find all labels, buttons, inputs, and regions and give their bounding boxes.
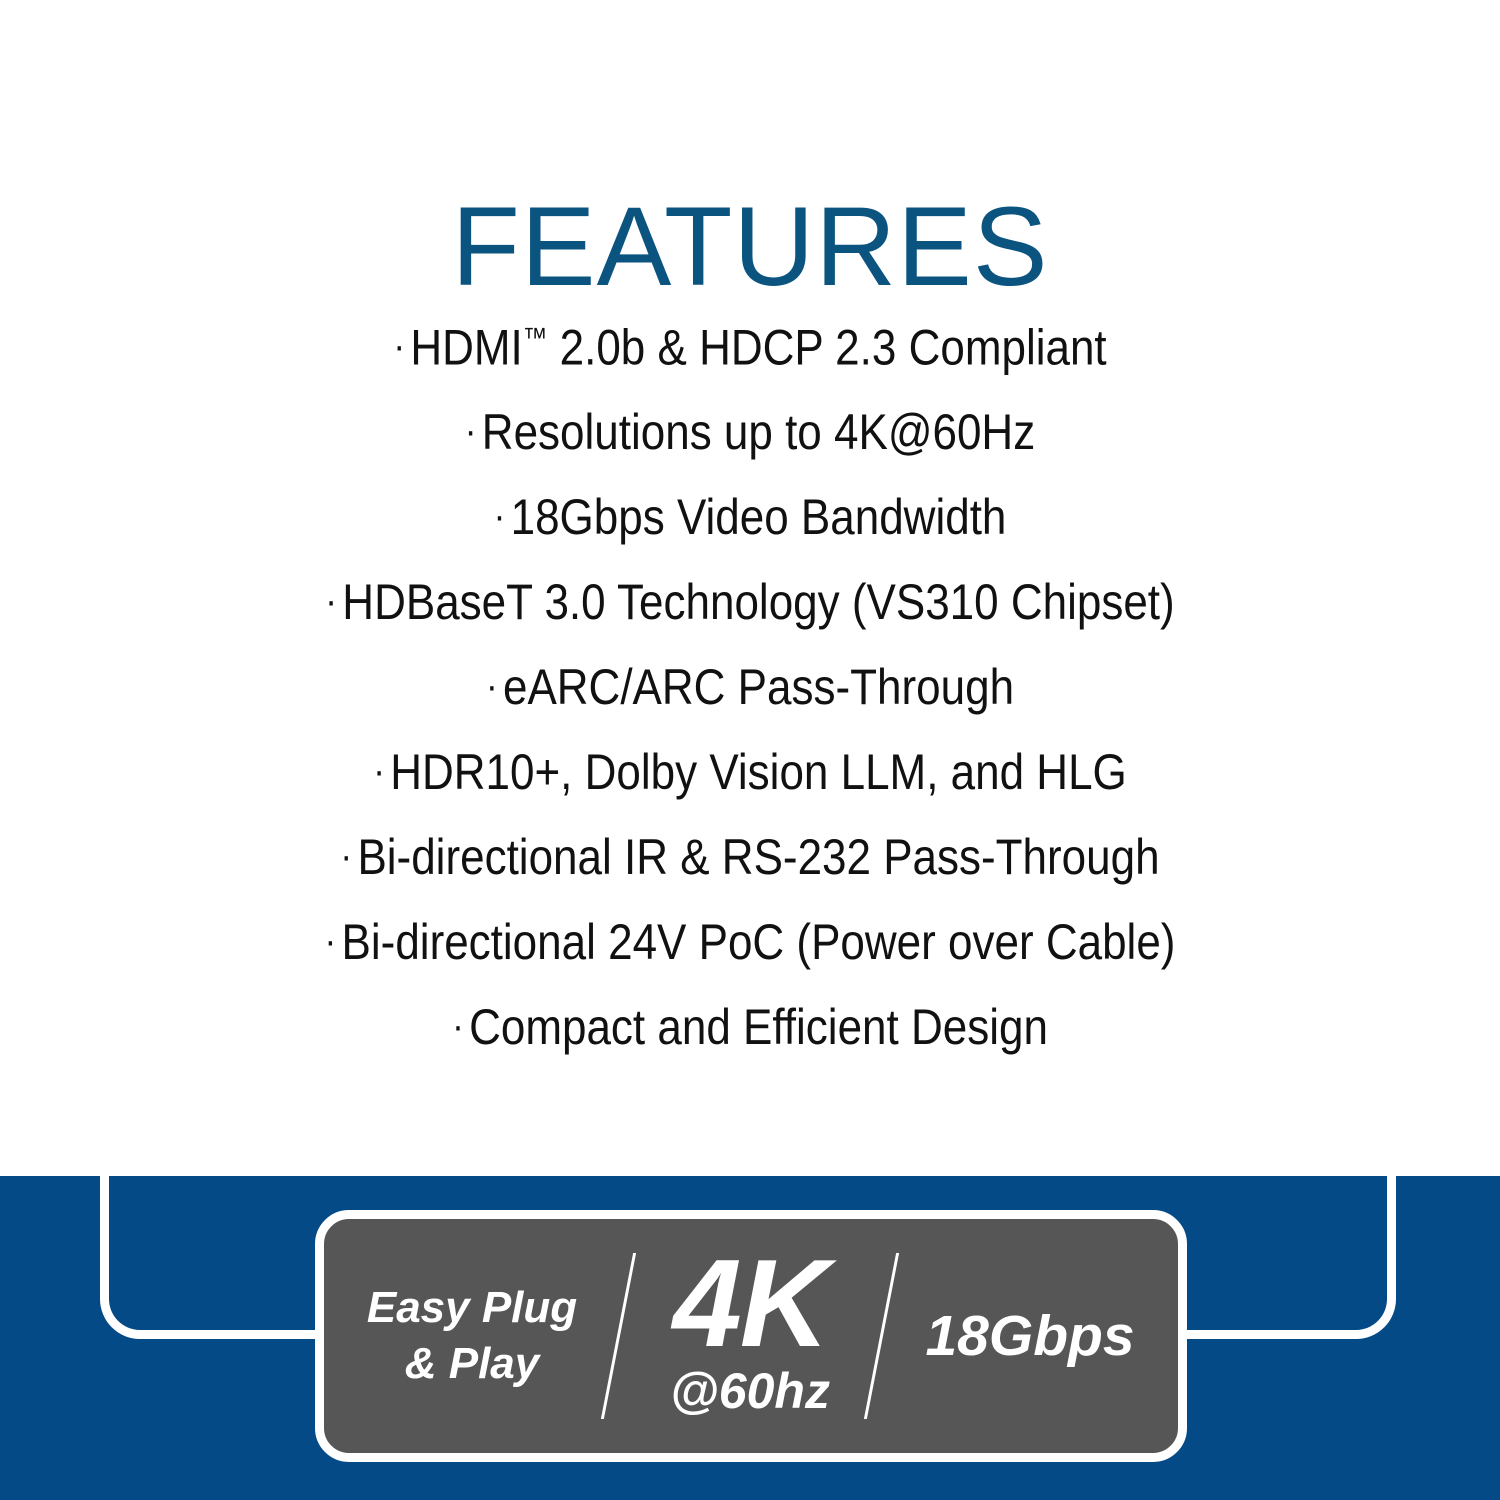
list-item-text: HDBaseT 3.0 Technology (VS310 Chipset) — [342, 574, 1174, 630]
list-item: ·eARC/ARC Pass-Through — [90, 644, 1410, 729]
list-item: ·HDMI™ 2.0b & HDCP 2.3 Compliant — [90, 296, 1410, 389]
spec-resolution-value: 4K — [673, 1250, 828, 1358]
list-item: ·HDR10+, Dolby Vision LLM, and HLG — [90, 729, 1410, 814]
spec-bandwidth-value: 18Gbps — [925, 1304, 1134, 1368]
list-item: ·Bi-directional 24V PoC (Power over Cabl… — [90, 899, 1410, 984]
bullet-icon: · — [393, 304, 405, 388]
list-item-text: Bi-directional IR & RS-232 Pass-Through — [357, 829, 1159, 885]
list-item-text-cont: 2.0b & HDCP 2.3 Compliant — [547, 319, 1106, 375]
list-item: ·Compact and Efficient Design — [90, 984, 1410, 1069]
bullet-icon: · — [494, 474, 506, 558]
bullet-icon: · — [465, 389, 477, 473]
spec-resolution: 4K @60hz — [626, 1250, 874, 1422]
page-title: FEATURES — [0, 191, 1500, 303]
bullet-icon: · — [325, 899, 337, 983]
feature-list: ·HDMI™ 2.0b & HDCP 2.3 Compliant ·Resolu… — [0, 296, 1500, 1069]
spec-badge: Easy Plug & Play 4K @60hz 18Gbps — [315, 1210, 1187, 1462]
spec-bandwidth: 18Gbps — [889, 1304, 1161, 1368]
list-item-text: Resolutions up to 4K@60Hz — [482, 404, 1035, 460]
list-item-text: eARC/ARC Pass-Through — [503, 659, 1014, 715]
list-item: ·Resolutions up to 4K@60Hz — [90, 389, 1410, 474]
bullet-icon: · — [325, 559, 337, 643]
list-item-text: HDR10+, Dolby Vision LLM, and HLG — [390, 744, 1127, 800]
bullet-icon: · — [340, 814, 352, 898]
trademark-icon: ™ — [523, 322, 548, 353]
list-item-text: Bi-directional 24V PoC (Power over Cable… — [342, 914, 1176, 970]
spec-plug-line-2: & Play — [405, 1336, 540, 1392]
spec-plug-line-1: Easy Plug — [367, 1280, 577, 1336]
list-item: ·Bi-directional IR & RS-232 Pass-Through — [90, 814, 1410, 899]
list-item-text: HDMI — [410, 319, 522, 375]
list-item-text: Compact and Efficient Design — [469, 999, 1048, 1055]
list-item: ·18Gbps Video Bandwidth — [90, 474, 1410, 559]
spec-resolution-refresh: @60hz — [670, 1360, 830, 1422]
bullet-icon: · — [452, 984, 464, 1068]
bullet-icon: · — [373, 729, 385, 813]
list-item: ·HDBaseT 3.0 Technology (VS310 Chipset) — [90, 559, 1410, 644]
list-item-text: 18Gbps Video Bandwidth — [511, 489, 1007, 545]
bullet-icon: · — [486, 644, 498, 728]
spec-easy-plug-and-play: Easy Plug & Play — [341, 1280, 611, 1392]
feature-page: FEATURES ·HDMI™ 2.0b & HDCP 2.3 Complian… — [0, 0, 1500, 1500]
